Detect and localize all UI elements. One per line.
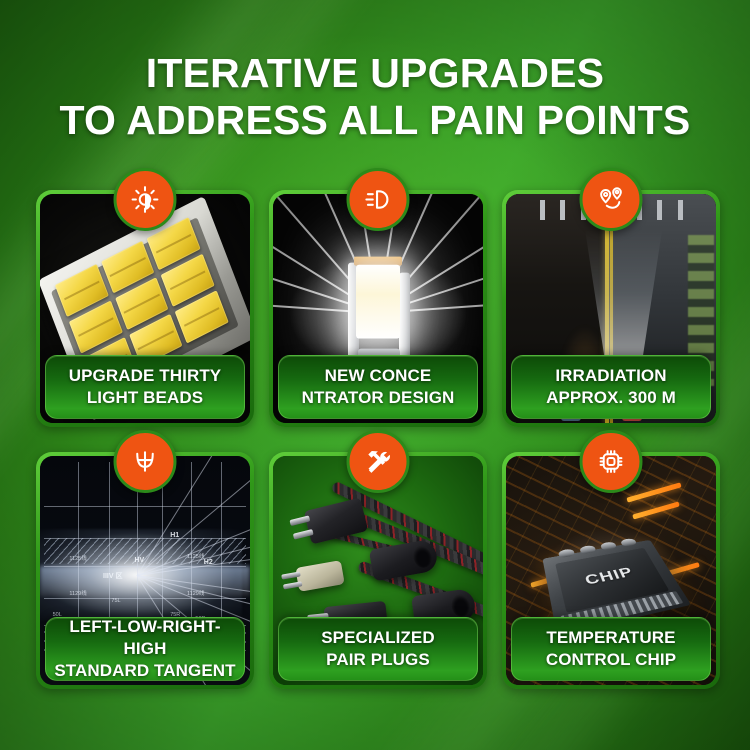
card-label-line-2: PAIR PLUGS bbox=[321, 649, 435, 671]
title-line-1: ITERATIVE UPGRADES bbox=[0, 50, 750, 97]
feature-card-irradiation[interactable]: IRRADIATION APPROX. 300 M bbox=[502, 190, 720, 427]
card-label-line-1: UPGRADE THIRTY bbox=[69, 365, 222, 387]
brightness-sun-icon bbox=[114, 168, 177, 231]
card-label: UPGRADE THIRTY LIGHT BEADS bbox=[45, 355, 245, 419]
feature-card-light-beads[interactable]: UPGRADE THIRTY LIGHT BEADS bbox=[36, 190, 254, 427]
low-beam-headlight-icon bbox=[347, 168, 410, 231]
chip-label: CHIP bbox=[583, 565, 636, 589]
poster: ITERATIVE UPGRADES TO ADDRESS ALL PAIN P… bbox=[0, 0, 750, 750]
card-label: TEMPERATURE CONTROL CHIP bbox=[511, 617, 711, 681]
card-label: LEFT-LOW-RIGHT-HIGH STANDARD TANGENT bbox=[45, 617, 245, 681]
page-title: ITERATIVE UPGRADES TO ADDRESS ALL PAIN P… bbox=[0, 50, 750, 144]
tangent-curve-icon bbox=[114, 430, 177, 493]
title-line-2: TO ADDRESS ALL PAIN POINTS bbox=[0, 97, 750, 144]
card-label-line-2: CONTROL CHIP bbox=[546, 649, 676, 671]
feature-card-temperature-chip[interactable]: CHIP TEMPERATURE CONTROL CHIP bbox=[502, 452, 720, 689]
card-label-line-1: NEW CONCE bbox=[302, 365, 455, 387]
card-label: SPECIALIZED PAIR PLUGS bbox=[278, 617, 478, 681]
route-map-pins-icon bbox=[580, 168, 643, 231]
card-label-line-1: IRRADIATION bbox=[546, 365, 676, 387]
card-label-line-1: LEFT-LOW-RIGHT-HIGH bbox=[50, 616, 240, 660]
card-label-line-2: NTRATOR DESIGN bbox=[302, 387, 455, 409]
card-label-line-2: LIGHT BEADS bbox=[69, 387, 222, 409]
card-label-line-1: TEMPERATURE bbox=[546, 627, 676, 649]
card-label: NEW CONCE NTRATOR DESIGN bbox=[278, 355, 478, 419]
cpu-chip-icon bbox=[580, 430, 643, 493]
feature-card-tangent[interactable]: HVH1H2IIIV 区1125线1125线1129线1129线50R50L75… bbox=[36, 452, 254, 689]
feature-card-concentrator[interactable]: NEW CONCE NTRATOR DESIGN bbox=[269, 190, 487, 427]
feature-grid: UPGRADE THIRTY LIGHT BEADS bbox=[36, 190, 720, 689]
card-label-line-1: SPECIALIZED bbox=[321, 627, 435, 649]
hammer-wrench-tools-icon bbox=[347, 430, 410, 493]
card-label: IRRADIATION APPROX. 300 M bbox=[511, 355, 711, 419]
feature-card-plugs[interactable]: SPECIALIZED PAIR PLUGS bbox=[269, 452, 487, 689]
card-label-line-2: STANDARD TANGENT bbox=[50, 660, 240, 682]
card-label-line-2: APPROX. 300 M bbox=[546, 387, 676, 409]
